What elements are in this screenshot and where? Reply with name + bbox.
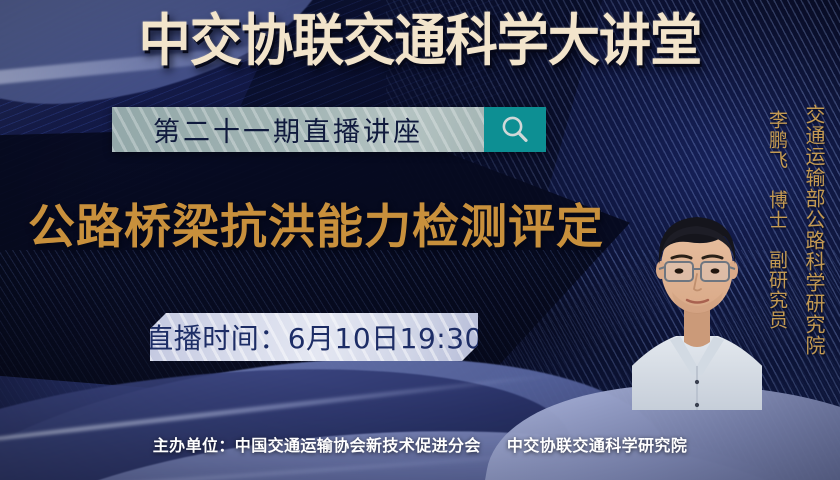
organizer-strip: 主办单位：中国交通运输协会新技术促进分会中交协联交通科学研究院 xyxy=(0,432,840,456)
organizer-label: 主办单位： xyxy=(153,436,235,455)
organizer-name-1: 中国交通运输协会新技术促进分会 xyxy=(235,436,481,455)
lecture-headline: 公路桥梁抗洪能力检测评定 xyxy=(28,200,604,256)
webinar-poster: 中交协联交通科学大讲堂 第二十一期直播讲座 公路桥梁抗洪能力检测评定 直播时间：… xyxy=(0,0,840,480)
page-title: 中交协联交通科学大讲堂 xyxy=(29,11,810,73)
live-time-text: 直播时间：6月10日19:30 xyxy=(150,317,478,357)
episode-bar-fill: 第二十一期直播讲座 xyxy=(112,107,484,152)
speaker-name-title: 李鹏飞 博士 副研究员 xyxy=(764,110,791,330)
episode-label: 第二十一期直播讲座 xyxy=(153,110,423,149)
episode-bar: 第二十一期直播讲座 xyxy=(112,107,546,152)
search-icon[interactable] xyxy=(484,107,546,152)
speaker-photo xyxy=(632,160,762,410)
speaker-organization: 交通运输部公路科学研究院 xyxy=(800,104,829,356)
live-time-badge: 直播时间：6月10日19:30 xyxy=(150,313,478,361)
organizer-name-2: 中交协联交通科学研究院 xyxy=(507,436,687,455)
